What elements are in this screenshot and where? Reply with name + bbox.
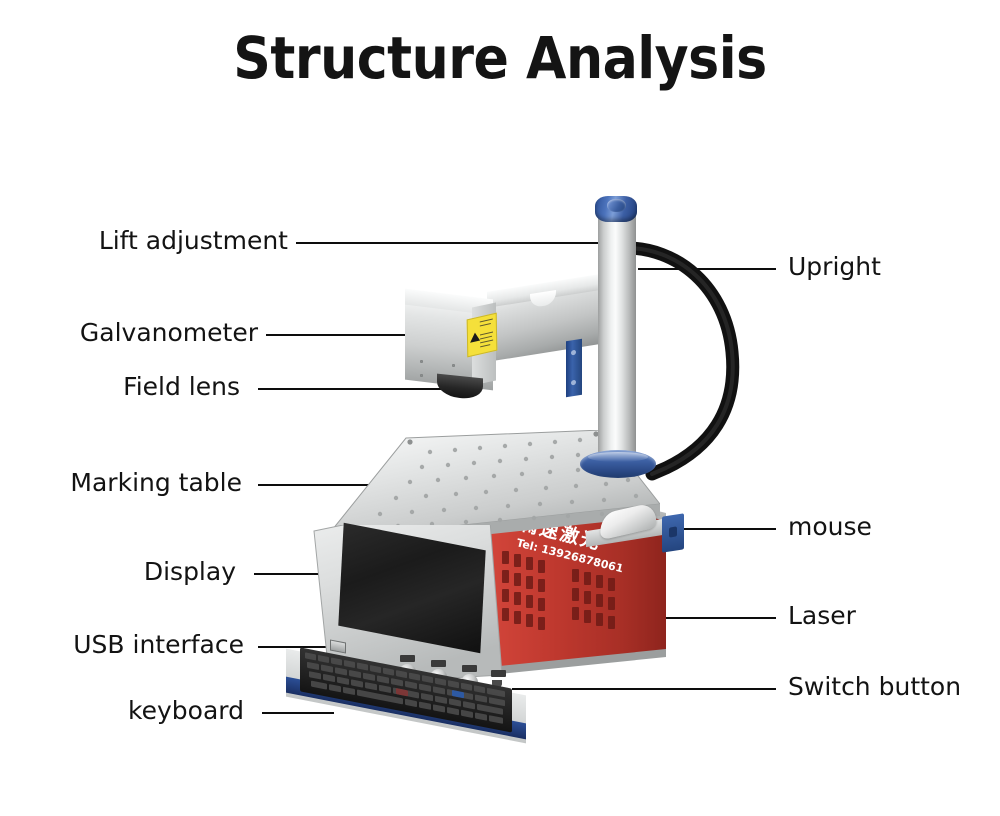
- label-display: Display: [144, 559, 236, 584]
- upright-base-highlight: [588, 452, 648, 462]
- arm-mount-bracket: [566, 339, 582, 398]
- label-switch-button: Switch button: [788, 674, 961, 699]
- lift-adjustment-knob[interactable]: [607, 199, 626, 212]
- upright-column: [598, 212, 636, 462]
- leader-mouse: [684, 528, 776, 530]
- label-upright: Upright: [788, 254, 881, 279]
- diagram-canvas: Structure Analysis: [0, 0, 1000, 816]
- field-lens: [437, 374, 483, 401]
- label-field-lens: Field lens: [123, 374, 240, 399]
- hazard-triangle-icon: [470, 331, 480, 342]
- leader-keyboard: [262, 712, 334, 714]
- laser-warning-sticker: [467, 313, 498, 358]
- label-laser: Laser: [788, 603, 856, 628]
- leader-lift-adjustment: [296, 242, 612, 244]
- mouse-shelf-handle[interactable]: [662, 513, 684, 552]
- leader-field-lens: [258, 388, 458, 390]
- label-marking-table: Marking table: [70, 470, 242, 495]
- label-galvanometer: Galvanometer: [80, 320, 258, 345]
- label-keyboard: keyboard: [128, 698, 244, 723]
- label-lift-adjustment: Lift adjustment: [99, 228, 288, 253]
- label-usb-interface: USB interface: [73, 632, 244, 657]
- label-mouse: mouse: [788, 514, 872, 539]
